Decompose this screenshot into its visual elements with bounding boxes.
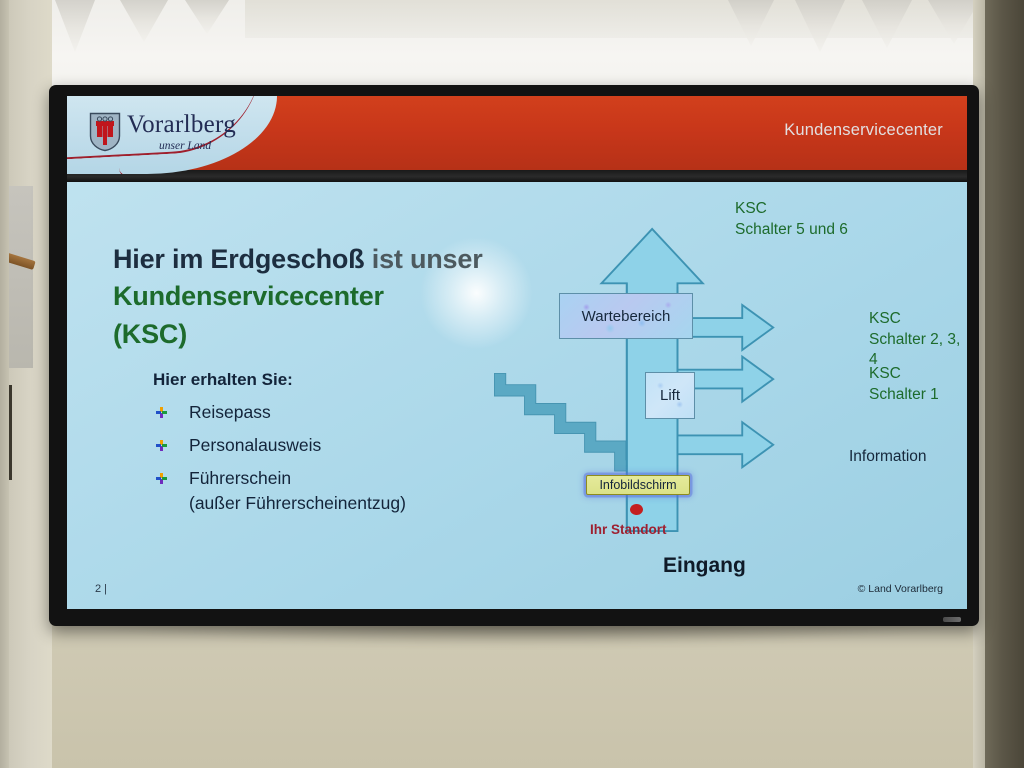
lift-box: Lift <box>645 372 695 419</box>
room-scene: Kundenservicecenter Vorarlberg unser Lan… <box>0 0 1024 768</box>
copyright-notice: © Land Vorarlberg <box>858 583 943 595</box>
label-ksc-schalter-2-3-4: KSC Schalter 2, 3, 4 <box>869 309 967 371</box>
logo-wordmark: Vorarlberg <box>127 111 236 139</box>
slide-content-area: Hier im Erdgeschoß ist unser Kundenservi… <box>67 182 967 609</box>
info-screen-box: Infobildschirm <box>586 475 690 495</box>
page-number: 2 | <box>95 583 107 595</box>
coat-of-arms-icon <box>89 112 121 152</box>
right-shadow-column <box>985 0 1024 768</box>
waiting-area-box: Wartebereich <box>559 293 693 339</box>
you-are-here-label: Ihr Standort <box>590 522 667 537</box>
vorarlberg-logo: Vorarlberg unser Land <box>67 96 277 174</box>
logo-tagline: unser Land <box>159 140 211 152</box>
presentation-slide: Kundenservicecenter Vorarlberg unser Lan… <box>67 96 967 609</box>
label-ksc-schalter-1: KSC Schalter 1 <box>869 364 939 405</box>
entrance-label: Eingang <box>663 554 746 578</box>
you-are-here-dot-icon <box>630 504 643 515</box>
power-led-icon <box>943 617 961 622</box>
diagram-arrows <box>67 182 967 609</box>
floor-plan-diagram: KSC Schalter 5 und 6 KSC Schalter 2, 3, … <box>67 182 967 609</box>
header-title: Kundenservicecenter <box>784 121 943 140</box>
label-ksc-schalter-5-6: KSC Schalter 5 und 6 <box>735 199 848 240</box>
left-edge-strip <box>0 0 9 768</box>
wall-display[interactable]: Kundenservicecenter Vorarlberg unser Lan… <box>49 85 979 626</box>
label-information: Information <box>849 447 927 468</box>
